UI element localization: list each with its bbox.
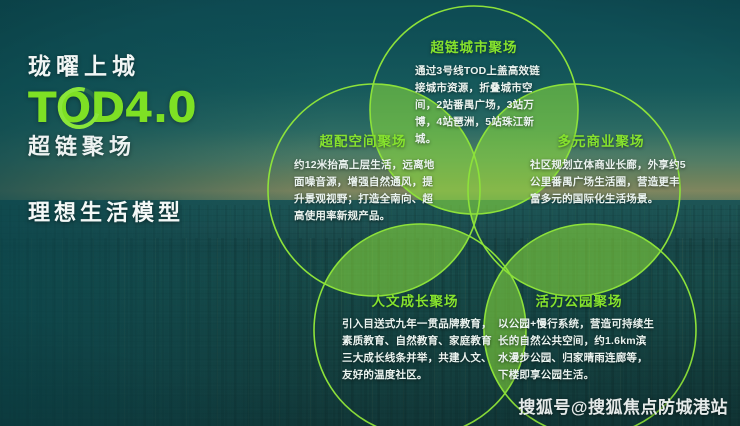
bubble-business-title: 多元商业聚场 <box>528 130 688 150</box>
bubble-city-title: 超链城市聚场 <box>400 36 548 56</box>
bubble-humanity: 人文成长聚场 引入目送式九年一贯品牌教育，素质教育、自然教育、家庭教育三大成长线… <box>332 290 492 384</box>
sub-headline: 超链聚场 <box>28 133 288 162</box>
bubble-space-title: 超配空间聚场 <box>288 130 438 150</box>
bubble-park-title: 活力公园聚场 <box>496 290 656 310</box>
tagline: 理想生活模型 <box>28 199 288 228</box>
headline-block: 珑曜上城 TOD4.0 超链聚场 理想生活模型 <box>28 52 288 228</box>
tod-logo-text: TOD4.0 <box>28 85 288 131</box>
bubble-business: 多元商业聚场 社区规划立体商业长廊，外享约5公里番禺广场生活圈，营造更丰富多元的… <box>528 130 688 208</box>
bubble-humanity-title: 人文成长聚场 <box>332 290 492 310</box>
tod-logo: TOD4.0 <box>28 85 288 131</box>
watermark: 搜狐号@搜狐焦点防城港站 <box>518 393 728 418</box>
bubble-space: 超配空间聚场 约12米抬高上层生活，远离地面噪音源，增强自然通风，提升景观视野；… <box>288 130 438 225</box>
bubble-park-body: 以公园+慢行系统，营造可持续生长的自然公共空间，约1.6km滨水漫步公园、归家晴… <box>496 316 656 384</box>
bubble-humanity-body: 引入目送式九年一贯品牌教育，素质教育、自然教育、家庭教育三大成长线条并举，共建人… <box>332 316 492 384</box>
bubble-park: 活力公园聚场 以公园+慢行系统，营造可持续生长的自然公共空间，约1.6km滨水漫… <box>496 290 656 384</box>
bubble-space-body: 约12米抬高上层生活，远离地面噪音源，增强自然通风，提升景观视野；打造全南向、超… <box>288 157 438 225</box>
poster-canvas: 珑曜上城 TOD4.0 超链聚场 理想生活模型 超链城市聚场 通过3号线TOD上… <box>0 0 740 426</box>
bubble-business-body: 社区规划立体商业长廊，外享约5公里番禺广场生活圈，营造更丰富多元的国际化生活场景… <box>528 157 688 208</box>
brand-name: 珑曜上城 <box>28 52 288 81</box>
